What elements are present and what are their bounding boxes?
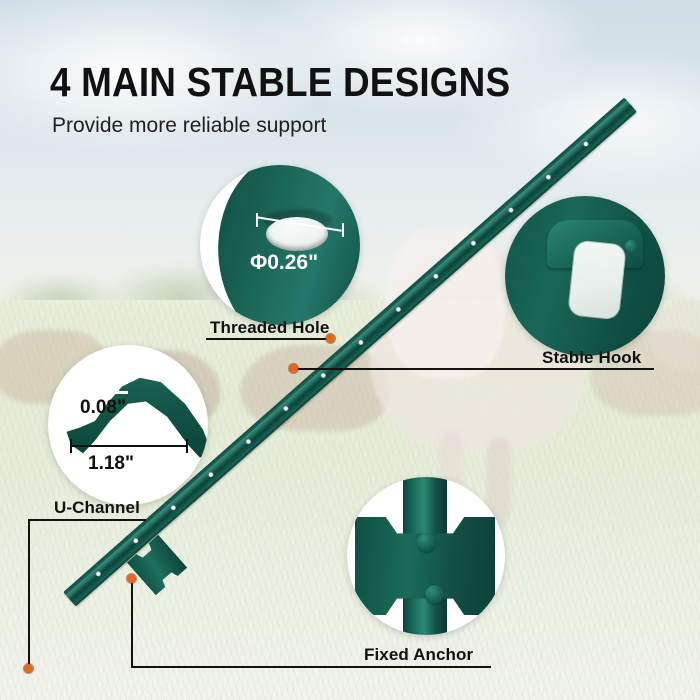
stable-hook-label-text: Stable Hook (542, 348, 641, 367)
anchor-rivet-upper (417, 533, 436, 552)
width-dimension-cap-right (186, 439, 188, 453)
threaded-hole-label-text: Threaded Hole (210, 318, 329, 337)
hook-rivet (625, 240, 637, 252)
marker-dot-u-channel (24, 664, 33, 673)
u-channel-width-label: 1.18" (88, 453, 134, 475)
marker-dot-fixed-anchor (127, 574, 136, 583)
leader-line-threaded-hole (206, 338, 331, 340)
callout-label-u-channel: U-Channel (54, 498, 140, 518)
callout-fixed-anchor[interactable] (347, 477, 505, 635)
callout-label-fixed-anchor: Fixed Anchor (364, 645, 473, 665)
leader-line-stable-hook (294, 368, 654, 370)
dimension-arrow-cap-left (256, 213, 258, 227)
leader-line-u-channel-vertical (28, 519, 30, 669)
marker-dot-stable-hook (289, 364, 298, 373)
page-subtitle: Provide more reliable support (52, 114, 326, 138)
threaded-hole-art: Φ0.26" (200, 165, 360, 325)
width-dimension-line (70, 445, 188, 447)
page-title: 4 MAIN STABLE DESIGNS (50, 59, 510, 106)
u-channel-cross-section (62, 367, 208, 475)
callout-threaded-hole[interactable]: Φ0.26" (200, 165, 360, 325)
u-channel-thickness-label: 0.08" (80, 397, 126, 419)
u-channel-art: 0.08" 1.18" (48, 345, 208, 505)
callout-label-threaded-hole: Threaded Hole (210, 318, 329, 338)
fixed-anchor-label-text: Fixed Anchor (364, 645, 473, 664)
hook-slot-opening (567, 239, 627, 320)
callout-stable-hook[interactable] (505, 196, 665, 356)
leader-line-fixed-anchor-horizontal (131, 666, 491, 668)
callout-u-channel[interactable]: 0.08" 1.18" (48, 345, 208, 505)
anchor-rivet-lower (425, 585, 444, 604)
thickness-caliper (106, 381, 128, 394)
callout-label-stable-hook: Stable Hook (542, 348, 641, 368)
stable-hook-art (505, 196, 665, 356)
fixed-anchor-art (347, 477, 505, 635)
dimension-arrow-cap-right (342, 223, 344, 237)
width-dimension-cap-left (70, 439, 72, 453)
u-channel-label-text: U-Channel (54, 498, 140, 517)
leader-line-u-channel-horizontal (28, 519, 146, 521)
leader-line-fixed-anchor-vertical (131, 578, 133, 668)
infographic-canvas: Φ0.26" Threaded Hole Stable Hook 0.08" (0, 0, 700, 700)
threaded-hole-dimension-label: Φ0.26" (250, 251, 318, 275)
